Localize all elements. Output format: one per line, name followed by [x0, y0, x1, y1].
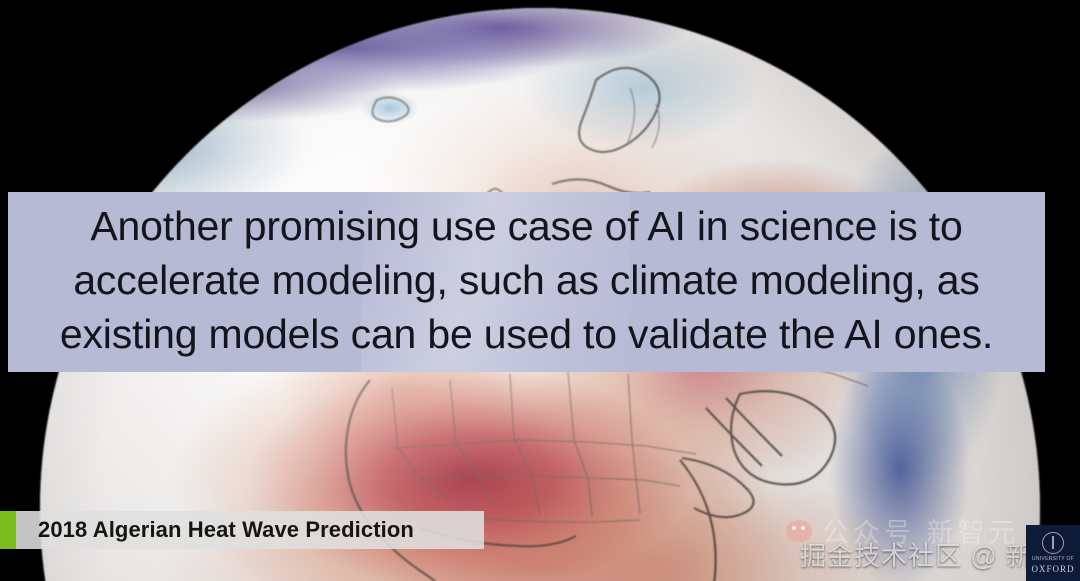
- oxford-university-logo: UNIVERSITY OF OXFORD: [1026, 525, 1080, 581]
- lower-third-bar: 2018 Algerian Heat Wave Prediction: [16, 511, 484, 549]
- caption-line-3: existing models can be used to validate …: [60, 308, 993, 360]
- oxford-crest-icon: [1042, 532, 1064, 554]
- oxford-logo-subtitle: UNIVERSITY OF: [1032, 556, 1074, 562]
- lower-third-accent-bar: [0, 511, 16, 549]
- caption-overlay: Another promising use case of AI in scie…: [8, 192, 1045, 372]
- caption-line-2: accelerate modeling, such as climate mod…: [73, 254, 979, 306]
- oxford-logo-name: OXFORD: [1031, 564, 1074, 574]
- video-player-frame: Another promising use case of AI in scie…: [0, 0, 1080, 581]
- lower-third-label: 2018 Algerian Heat Wave Prediction: [38, 517, 414, 543]
- lower-third-title: 2018 Algerian Heat Wave Prediction: [0, 511, 484, 549]
- caption-line-1: Another promising use case of AI in scie…: [90, 200, 962, 252]
